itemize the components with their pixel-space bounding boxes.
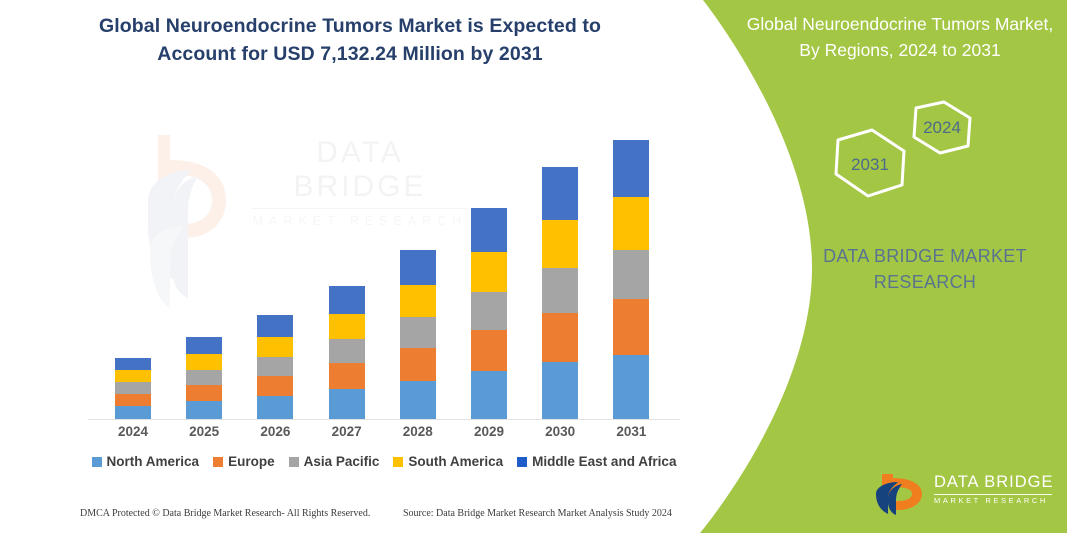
bar-2029[interactable] — [471, 208, 507, 419]
infographic-canvas: Global Neuroendocrine Tumors Market is E… — [0, 0, 1067, 533]
logo-subtitle: MARKET RESEARCH — [934, 497, 1056, 505]
bar-2031[interactable] — [613, 140, 649, 419]
bar-segment-2029-middle-east-and-africa[interactable] — [471, 208, 507, 252]
x-label-2030: 2030 — [542, 424, 578, 439]
x-label-2029: 2029 — [471, 424, 507, 439]
x-label-2024: 2024 — [115, 424, 151, 439]
legend-item-asia-pacific[interactable]: Asia Pacific — [289, 454, 380, 469]
bar-segment-2028-europe[interactable] — [400, 348, 436, 381]
bar-segment-2024-asia-pacific[interactable] — [115, 382, 151, 394]
bar-segment-2025-south-america[interactable] — [186, 354, 222, 370]
bar-segment-2030-north-america[interactable] — [542, 362, 578, 419]
bar-2024[interactable] — [115, 358, 151, 419]
bar-segment-2025-north-america[interactable] — [186, 401, 222, 419]
chart-title: Global Neuroendocrine Tumors Market is E… — [60, 13, 640, 68]
bar-segment-2024-europe[interactable] — [115, 394, 151, 406]
bar-segment-2031-north-america[interactable] — [613, 355, 649, 419]
stacked-bar-chart — [88, 120, 680, 420]
legend-label-north-america: North America — [107, 454, 200, 469]
legend-swatch-asia-pacific — [289, 457, 299, 467]
bar-2026[interactable] — [257, 315, 293, 419]
hexagon-2024-label: 2024 — [923, 118, 961, 137]
x-axis-labels: 20242025202620272028202920302031 — [88, 424, 680, 444]
legend-swatch-north-america — [92, 457, 102, 467]
data-bridge-logo-icon — [874, 472, 930, 516]
bar-segment-2028-south-america[interactable] — [400, 285, 436, 317]
bar-segment-2026-europe[interactable] — [257, 376, 293, 396]
panel-title: Global Neuroendocrine Tumors Market, By … — [745, 12, 1055, 63]
logo-title: DATA BRIDGE — [934, 474, 1056, 491]
bar-segment-2027-europe[interactable] — [329, 363, 365, 389]
bar-segment-2026-south-america[interactable] — [257, 337, 293, 357]
panel-brand-text: DATA BRIDGE MARKET RESEARCH — [795, 244, 1055, 295]
legend-label-middle-east-and-africa: Middle East and Africa — [532, 454, 676, 469]
bar-segment-2024-north-america[interactable] — [115, 406, 151, 419]
footer-copyright: DMCA Protected © Data Bridge Market Rese… — [80, 508, 370, 519]
hexagon-group: 2024 2031 — [820, 100, 990, 210]
x-label-2031: 2031 — [613, 424, 649, 439]
legend-label-south-america: South America — [408, 454, 503, 469]
legend-swatch-europe — [213, 457, 223, 467]
x-label-2028: 2028 — [400, 424, 436, 439]
bar-segment-2027-middle-east-and-africa[interactable] — [329, 286, 365, 314]
legend-item-middle-east-and-africa[interactable]: Middle East and Africa — [517, 454, 676, 469]
bar-segment-2029-north-america[interactable] — [471, 371, 507, 419]
bar-segment-2031-middle-east-and-africa[interactable] — [613, 140, 649, 197]
logo-wordmark: DATA BRIDGE MARKET RESEARCH — [934, 474, 1056, 504]
bar-segment-2027-north-america[interactable] — [329, 389, 365, 419]
data-bridge-logo: DATA BRIDGE MARKET RESEARCH — [874, 470, 1054, 518]
legend-swatch-middle-east-and-africa — [517, 457, 527, 467]
x-axis-line — [88, 419, 680, 421]
bar-segment-2028-north-america[interactable] — [400, 381, 436, 419]
bar-2028[interactable] — [400, 250, 436, 419]
bar-segment-2025-asia-pacific[interactable] — [186, 370, 222, 385]
bar-segment-2025-middle-east-and-africa[interactable] — [186, 337, 222, 354]
bar-segment-2029-europe[interactable] — [471, 330, 507, 371]
bar-segment-2030-south-america[interactable] — [542, 220, 578, 268]
x-label-2025: 2025 — [186, 424, 222, 439]
legend-item-south-america[interactable]: South America — [393, 454, 503, 469]
logo-divider — [934, 494, 1052, 495]
bar-segment-2031-south-america[interactable] — [613, 197, 649, 250]
bar-segment-2024-middle-east-and-africa[interactable] — [115, 358, 151, 370]
legend-item-north-america[interactable]: North America — [92, 454, 200, 469]
x-label-2027: 2027 — [329, 424, 365, 439]
legend-label-asia-pacific: Asia Pacific — [304, 454, 380, 469]
bar-segment-2029-asia-pacific[interactable] — [471, 292, 507, 330]
bar-segment-2026-north-america[interactable] — [257, 396, 293, 419]
bar-2027[interactable] — [329, 286, 365, 419]
x-label-2026: 2026 — [257, 424, 293, 439]
bar-segment-2026-asia-pacific[interactable] — [257, 357, 293, 376]
bar-segment-2031-asia-pacific[interactable] — [613, 250, 649, 299]
bar-segment-2028-middle-east-and-africa[interactable] — [400, 250, 436, 285]
bar-segment-2026-middle-east-and-africa[interactable] — [257, 315, 293, 337]
legend-label-europe: Europe — [228, 454, 275, 469]
legend-item-europe[interactable]: Europe — [213, 454, 275, 469]
bar-segment-2029-south-america[interactable] — [471, 252, 507, 292]
bar-segment-2028-asia-pacific[interactable] — [400, 317, 436, 348]
hexagon-2031-label: 2031 — [851, 155, 889, 174]
footer-source: Source: Data Bridge Market Research Mark… — [403, 508, 672, 519]
bar-segment-2024-south-america[interactable] — [115, 370, 151, 382]
bar-segment-2025-europe[interactable] — [186, 385, 222, 401]
bar-segment-2030-europe[interactable] — [542, 313, 578, 362]
bar-2030[interactable] — [542, 167, 578, 419]
bar-segment-2030-middle-east-and-africa[interactable] — [542, 167, 578, 220]
bar-segment-2027-asia-pacific[interactable] — [329, 339, 365, 363]
bar-segment-2031-europe[interactable] — [613, 299, 649, 355]
bar-segment-2030-asia-pacific[interactable] — [542, 268, 578, 313]
footer: DMCA Protected © Data Bridge Market Rese… — [80, 508, 680, 526]
chart-legend: North America Europe Asia Pacific South … — [88, 454, 680, 469]
bar-segment-2027-south-america[interactable] — [329, 314, 365, 339]
legend-swatch-south-america — [393, 457, 403, 467]
bar-2025[interactable] — [186, 337, 222, 419]
